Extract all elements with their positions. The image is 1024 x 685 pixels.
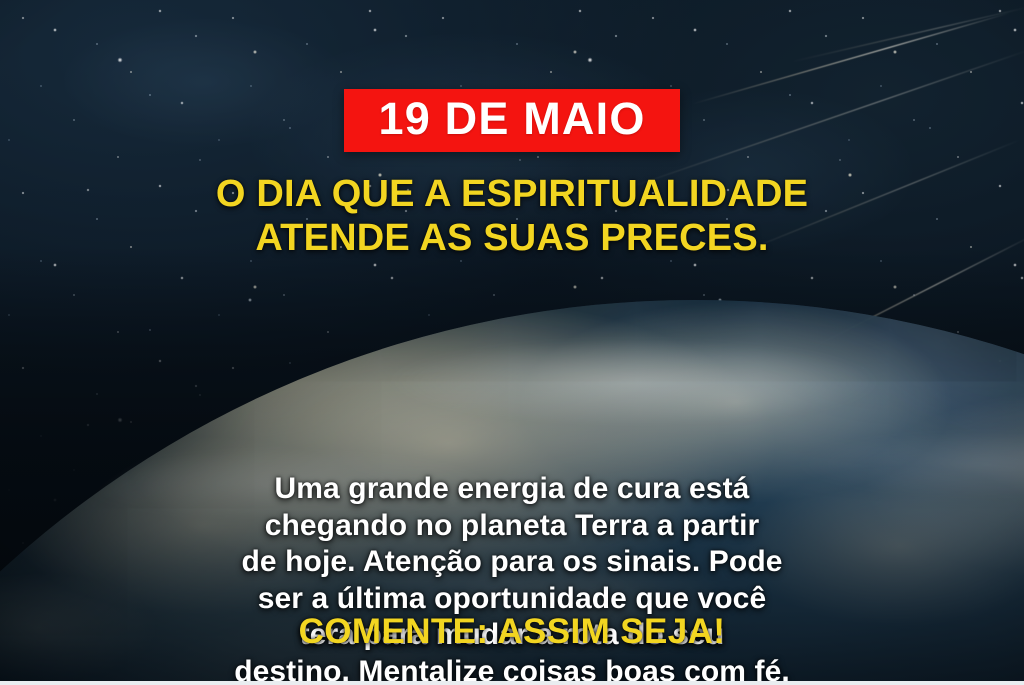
date-banner-text: 19 DE MAIO <box>378 93 645 144</box>
headline-line-1: O DIA QUE A ESPIRITUALIDADE <box>216 172 808 216</box>
body-line-2: chegando no planeta Terra a partir <box>52 508 972 545</box>
body-paragraph: Uma grande energia de cura está chegando… <box>52 471 972 685</box>
bottom-edge-strip <box>0 681 1024 685</box>
poster-image: 19 DE MAIO O DIA QUE A ESPIRITUALIDADE A… <box>0 0 1024 685</box>
headline: O DIA QUE A ESPIRITUALIDADE ATENDE AS SU… <box>216 172 808 260</box>
body-line-1: Uma grande energia de cura está <box>52 471 972 508</box>
poster-content: 19 DE MAIO O DIA QUE A ESPIRITUALIDADE A… <box>0 0 1024 685</box>
headline-line-2: ATENDE AS SUAS PRECES. <box>216 216 808 260</box>
call-to-action-text: COMENTE: ASSIM SEJA! <box>299 612 726 652</box>
date-banner: 19 DE MAIO <box>344 89 679 152</box>
body-line-3: de hoje. Atenção para os sinais. Pode <box>52 544 972 581</box>
